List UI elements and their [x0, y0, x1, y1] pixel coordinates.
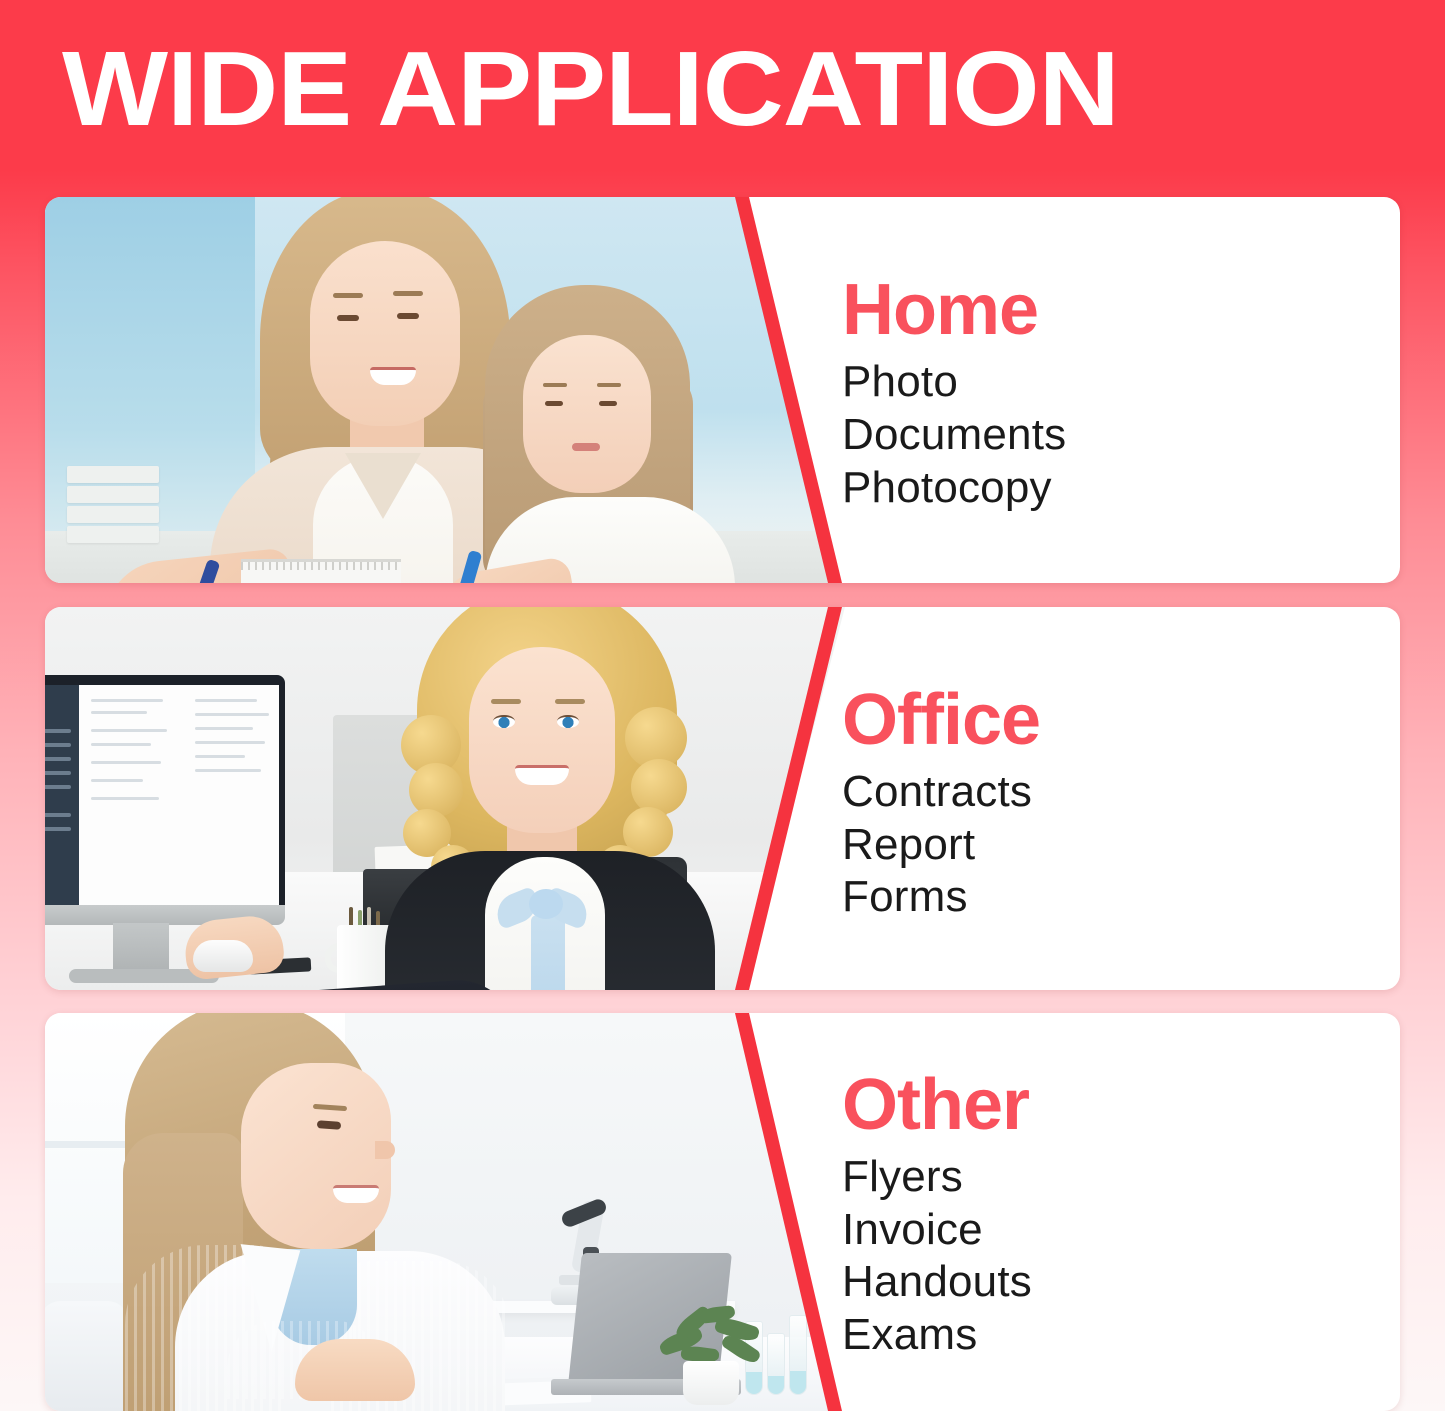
mother-vneck	[345, 453, 421, 519]
girl-brow-right	[597, 383, 621, 387]
woman-eye	[317, 1120, 341, 1130]
photo-office-scene	[45, 607, 845, 990]
bow-knot	[529, 889, 563, 919]
photo-other-scene	[45, 1013, 845, 1411]
list-item: Handouts	[842, 1256, 1400, 1309]
mother-brow-right	[393, 291, 423, 296]
woman-smile	[333, 1185, 379, 1203]
photo-other	[45, 1013, 845, 1411]
woman-brow-right	[555, 699, 585, 704]
mother-eye-left	[337, 315, 359, 321]
photo-office	[45, 607, 845, 990]
clasped-hands	[295, 1339, 415, 1401]
mother-brow-left	[333, 293, 363, 298]
test-tube-2	[767, 1333, 785, 1395]
list-item: Photocopy	[842, 462, 1400, 515]
application-card-home: Home Photo Documents Photocopy	[45, 197, 1400, 583]
photo-home-scene	[45, 197, 845, 583]
monitor-stand	[113, 923, 169, 975]
woman-eye-right	[557, 715, 579, 728]
text-panel-office: Office Contracts Report Forms	[820, 607, 1400, 990]
list-item: Forms	[842, 871, 1400, 924]
mother-smile	[370, 367, 416, 385]
test-tube-liquid	[790, 1371, 806, 1394]
monitor-screen	[45, 685, 279, 905]
application-card-other: Other Flyers Invoice Handouts Exams	[45, 1013, 1400, 1411]
text-panel-other: Other Flyers Invoice Handouts Exams	[820, 1013, 1400, 1411]
girl-mouth	[572, 443, 600, 451]
girl-brow-left	[543, 383, 567, 387]
woman-smile	[515, 765, 569, 785]
list-item: Documents	[842, 409, 1400, 462]
book-stack	[67, 447, 159, 543]
woman-brow-left	[491, 699, 521, 704]
mother-eye-right	[397, 313, 419, 319]
computer-mouse	[193, 940, 253, 972]
woman-face	[241, 1063, 391, 1249]
girl-face	[523, 335, 651, 493]
plant-pot	[683, 1361, 739, 1405]
card-list-home: Photo Documents Photocopy	[842, 356, 1400, 514]
list-item: Invoice	[842, 1204, 1400, 1257]
girl-eye-right	[599, 401, 617, 406]
woman-nose	[375, 1141, 395, 1159]
girl-eye-left	[545, 401, 563, 406]
test-tube-3	[789, 1315, 807, 1395]
card-title-other: Other	[842, 1068, 1400, 1143]
list-item: Contracts	[842, 766, 1400, 819]
wide-application-infographic: WIDE APPLICATION	[0, 0, 1445, 1411]
card-list-office: Contracts Report Forms	[842, 766, 1400, 924]
test-tube-liquid	[768, 1376, 784, 1394]
text-panel-home: Home Photo Documents Photocopy	[820, 197, 1400, 583]
photo-home	[45, 197, 845, 583]
notepad	[241, 559, 401, 583]
woman-face	[469, 647, 615, 833]
bow-tail	[531, 915, 565, 990]
list-item: Exams	[842, 1309, 1400, 1362]
card-title-home: Home	[842, 273, 1400, 348]
screen-sidebar	[45, 685, 79, 905]
list-item: Flyers	[842, 1151, 1400, 1204]
application-card-office: Office Contracts Report Forms	[45, 607, 1400, 990]
card-list-other: Flyers Invoice Handouts Exams	[842, 1151, 1400, 1362]
mother-face	[310, 241, 460, 426]
woman-eye-left	[493, 715, 515, 728]
page-title: WIDE APPLICATION	[62, 36, 1119, 142]
card-title-office: Office	[842, 683, 1400, 758]
list-item: Report	[842, 819, 1400, 872]
test-tube-liquid	[746, 1372, 762, 1394]
woman-neck-bow	[483, 889, 605, 990]
white-chair	[45, 1301, 129, 1411]
header-banner: WIDE APPLICATION	[0, 0, 1445, 180]
list-item: Photo	[842, 356, 1400, 409]
